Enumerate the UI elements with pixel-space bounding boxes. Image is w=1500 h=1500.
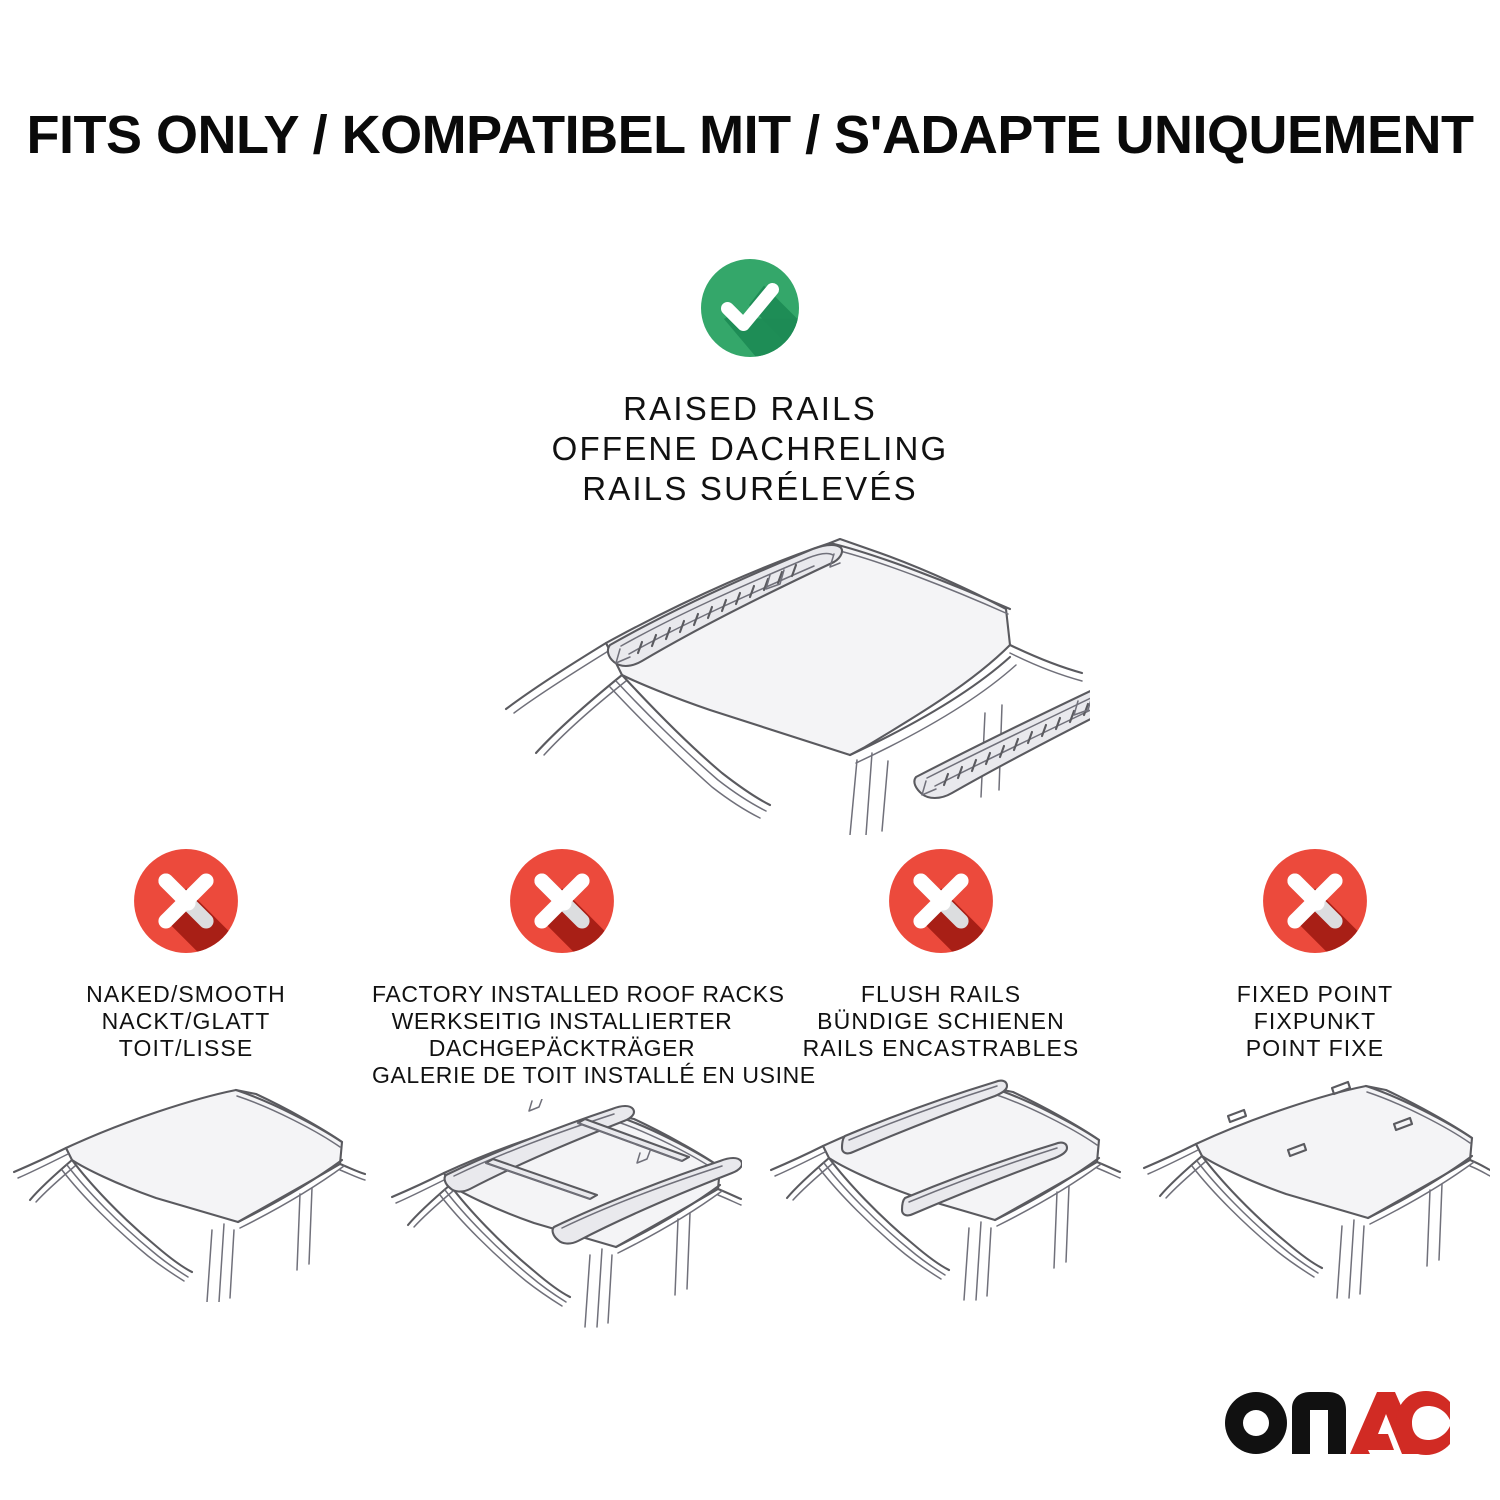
- caption-line-fr: GALERIE DE TOIT INSTALLÉ EN USINE: [372, 1062, 752, 1089]
- caption-line-de-2: DACHGEPÄCKTRÄGER: [372, 1035, 752, 1062]
- incompatible-item-fixed-point: FIXED POINT FIXPUNKT POINT FIXE: [1130, 848, 1500, 1307]
- car-roof-with-raised-rails-illustration: [410, 505, 1090, 835]
- caption-line-de-1: WERKSEITIG INSTALLIERTER: [372, 1008, 752, 1035]
- omac-logo: [1222, 1390, 1452, 1456]
- car-roof-fixed-point-illustration: [1130, 1072, 1500, 1307]
- incompatible-item-flush-rails: FLUSH RAILS BÜNDIGE SCHIENEN RAILS ENCAS…: [752, 848, 1130, 1307]
- incompatible-caption-fixed-point: FIXED POINT FIXPUNKT POINT FIXE: [1130, 981, 1500, 1062]
- incompatible-item-naked-smooth: NAKED/SMOOTH NACKT/GLATT TOIT/LISSE: [0, 848, 372, 1307]
- caption-line-fr: TOIT/LISSE: [0, 1035, 372, 1062]
- compatible-line-fr: RAILS SURÉLEVÉS: [0, 469, 1500, 509]
- caption-line-fr: POINT FIXE: [1130, 1035, 1500, 1062]
- fitment-infographic: FITS ONLY / KOMPATIBEL MIT / S'ADAPTE UN…: [0, 0, 1500, 1500]
- incompatible-row: NAKED/SMOOTH NACKT/GLATT TOIT/LISSE: [0, 848, 1500, 1334]
- cross-circle-icon: [1130, 848, 1500, 959]
- car-roof-factory-roof-racks-illustration: [372, 1099, 752, 1334]
- cross-circle-icon: [0, 848, 372, 959]
- caption-line-en: FLUSH RAILS: [752, 981, 1130, 1008]
- caption-line-de: FIXPUNKT: [1130, 1008, 1500, 1035]
- compatible-line-de: OFFENE DACHRELING: [0, 429, 1500, 469]
- incompatible-item-factory-roof-racks: FACTORY INSTALLED ROOF RACKS WERKSEITIG …: [372, 848, 752, 1334]
- caption-line-de: BÜNDIGE SCHIENEN: [752, 1008, 1130, 1035]
- compatible-caption: RAISED RAILS OFFENE DACHRELING RAILS SUR…: [0, 389, 1500, 509]
- check-circle-icon: [0, 258, 1500, 363]
- car-roof-flush-rails-illustration: [752, 1072, 1130, 1307]
- caption-line-en: FIXED POINT: [1130, 981, 1500, 1008]
- caption-line-de: NACKT/GLATT: [0, 1008, 372, 1035]
- car-roof-naked-smooth-illustration: [0, 1072, 372, 1307]
- caption-line-en: NAKED/SMOOTH: [0, 981, 372, 1008]
- caption-line-en: FACTORY INSTALLED ROOF RACKS: [372, 981, 752, 1008]
- page-title: FITS ONLY / KOMPATIBEL MIT / S'ADAPTE UN…: [0, 104, 1500, 166]
- incompatible-caption-factory-roof-racks: FACTORY INSTALLED ROOF RACKS WERKSEITIG …: [372, 981, 752, 1089]
- compatible-block: RAISED RAILS OFFENE DACHRELING RAILS SUR…: [0, 258, 1500, 509]
- cross-circle-icon: [752, 848, 1130, 959]
- compatible-line-en: RAISED RAILS: [0, 389, 1500, 429]
- cross-circle-icon: [372, 848, 752, 959]
- incompatible-caption-naked-smooth: NAKED/SMOOTH NACKT/GLATT TOIT/LISSE: [0, 981, 372, 1062]
- caption-line-fr: RAILS ENCASTRABLES: [752, 1035, 1130, 1062]
- incompatible-caption-flush-rails: FLUSH RAILS BÜNDIGE SCHIENEN RAILS ENCAS…: [752, 981, 1130, 1062]
